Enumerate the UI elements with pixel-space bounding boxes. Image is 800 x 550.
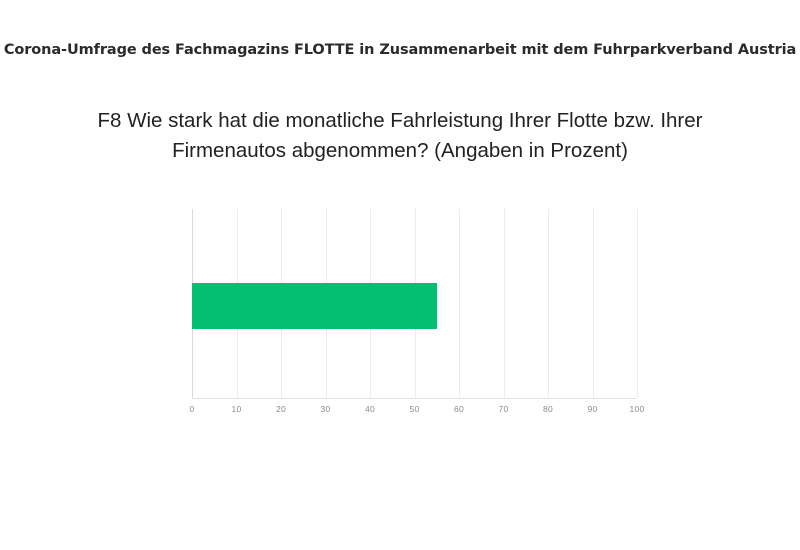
x-tick-label-40: 40 <box>365 404 375 414</box>
x-tick-label-70: 70 <box>498 404 508 414</box>
x-tick-label-10: 10 <box>231 404 241 414</box>
x-tick-label-30: 30 <box>320 404 330 414</box>
x-tick-label-20: 20 <box>276 404 286 414</box>
x-tick-label-0: 0 <box>189 404 194 414</box>
slide-header: Corona-Umfrage des Fachmagazins FLOTTE i… <box>0 42 800 58</box>
x-tick-label-50: 50 <box>409 404 419 414</box>
x-tick-label-100: 100 <box>629 404 644 414</box>
chart-title: F8 Wie stark hat die monatliche Fahrleis… <box>55 106 745 165</box>
gridline-100 <box>637 209 638 398</box>
x-axis-tick-labels: 0102030405060708090100 <box>192 404 637 424</box>
x-tick-label-80: 80 <box>543 404 553 414</box>
chart-title-line-1: F8 Wie stark hat die monatliche Fahrleis… <box>55 106 745 136</box>
bar[interactable] <box>192 283 437 329</box>
bar-chart <box>192 209 637 398</box>
bar-series <box>192 209 637 398</box>
chart-title-line-2: Firmenautos abgenommen? (Angaben in Proz… <box>55 136 745 166</box>
plot-area <box>192 209 637 399</box>
x-tick-label-60: 60 <box>454 404 464 414</box>
x-tick-label-90: 90 <box>587 404 597 414</box>
